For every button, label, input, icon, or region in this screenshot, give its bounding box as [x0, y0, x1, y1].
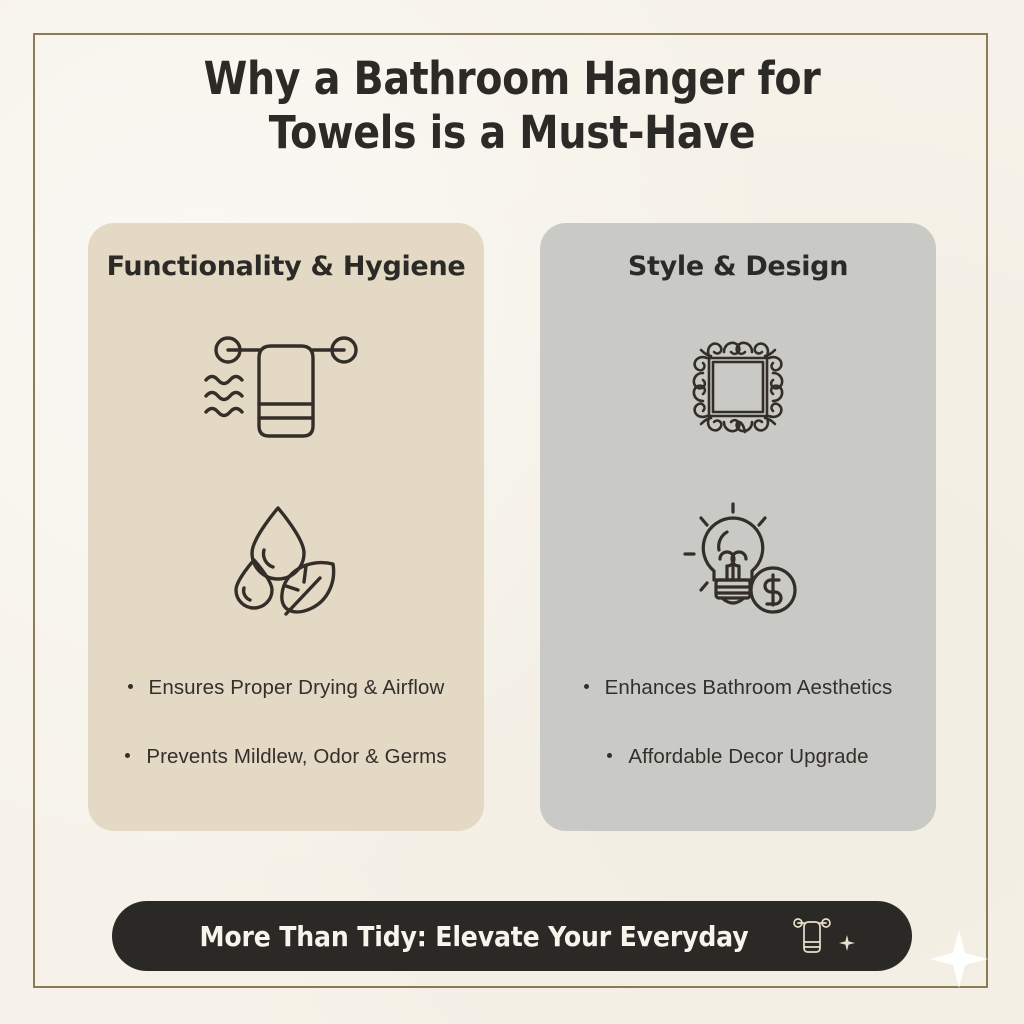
- bullet-list-right: Enhances Bathroom Aesthetics Affordable …: [540, 676, 936, 769]
- cards-container: Functionality & Hygiene: [88, 223, 936, 831]
- card-style-design: Style & Design: [540, 223, 936, 831]
- list-item: Enhances Bathroom Aesthetics: [540, 676, 936, 700]
- bullet-text: Ensures Proper Drying & Airflow: [149, 676, 445, 700]
- bullet-text: Enhances Bathroom Aesthetics: [605, 676, 893, 700]
- ornate-frame-icon: [679, 328, 797, 446]
- bullet-dot-icon: [607, 753, 612, 758]
- bullet-text: Affordable Decor Upgrade: [628, 745, 868, 769]
- list-item: Ensures Proper Drying & Airflow: [88, 676, 484, 700]
- sparkle-icon: [839, 935, 855, 951]
- bullet-dot-icon: [128, 684, 133, 689]
- page-title-line-2: Towels is a Must-Have: [61, 106, 962, 160]
- towel-rack-icon: [793, 915, 831, 957]
- card-functionality-hygiene: Functionality & Hygiene: [88, 223, 484, 831]
- bullet-dot-icon: [584, 684, 589, 689]
- icon-stack-right: [540, 328, 936, 618]
- card-title-style-design: Style & Design: [540, 251, 936, 282]
- bullet-dot-icon: [125, 753, 130, 758]
- list-item: Prevents Mildlew, Odor & Germs: [88, 745, 484, 769]
- towel-on-rack-icon: [201, 328, 371, 446]
- water-droplets-leaf-icon: [226, 498, 346, 618]
- lightbulb-coin-icon: [677, 498, 799, 618]
- bullet-list-left: Ensures Proper Drying & Airflow Prevents…: [88, 676, 484, 769]
- footer-banner: More Than Tidy: Elevate Your Everyday: [112, 901, 912, 971]
- icon-stack-left: [88, 328, 484, 618]
- list-item: Affordable Decor Upgrade: [540, 745, 936, 769]
- page-title: Why a Bathroom Hanger for Towels is a Mu…: [61, 52, 962, 160]
- page-title-line-1: Why a Bathroom Hanger for: [61, 52, 962, 106]
- footer-tagline: More Than Tidy: Elevate Your Everyday: [200, 920, 749, 953]
- card-title-functionality-hygiene: Functionality & Hygiene: [88, 251, 484, 282]
- bullet-text: Prevents Mildlew, Odor & Germs: [146, 745, 446, 769]
